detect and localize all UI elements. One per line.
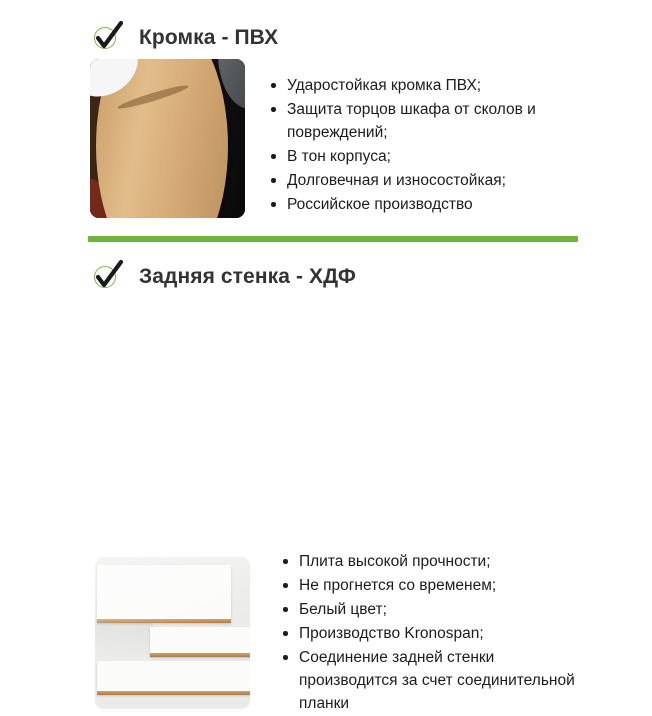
- board-core-edge: [97, 691, 250, 695]
- hdf-boards-artwork: [95, 557, 250, 709]
- feature-section-back: Задняя стенка - ХДФ Плита высокой прочно…: [0, 247, 652, 500]
- feature-list-back: Плита высокой прочности; Не прогнется со…: [282, 550, 582, 716]
- section-heading-back: Задняя стенка - ХДФ: [90, 260, 356, 294]
- board-shadow: [95, 619, 153, 663]
- list-item: Российское производство: [270, 193, 570, 216]
- board-core-edge: [150, 653, 250, 657]
- board-bottom: [97, 661, 250, 695]
- list-item: Белый цвет;: [282, 598, 582, 621]
- section-divider: [88, 236, 578, 242]
- board-core-edge: [97, 619, 231, 623]
- board-middle: [150, 627, 250, 657]
- list-item: Защита торцов шкафа от сколов и поврежде…: [270, 98, 570, 144]
- list-item: Ударостойкая кромка ПВХ;: [270, 74, 570, 97]
- check-circle-icon: [90, 260, 124, 294]
- edge-banding-artwork: [90, 59, 245, 218]
- check-circle-icon: [90, 21, 124, 55]
- list-item: В тон корпуса;: [270, 145, 570, 168]
- feature-section-edge: Кромка - ПВХ Ударостойкая кромка ПВХ; За…: [0, 0, 652, 230]
- section-title-edge: Кромка - ПВХ: [139, 26, 278, 50]
- pvc-edge-banding-photo: [90, 59, 245, 218]
- list-item: Долговечная и износостойкая;: [270, 169, 570, 192]
- feature-list-edge: Ударостойкая кромка ПВХ; Защита торцов ш…: [270, 74, 570, 217]
- section-title-back: Задняя стенка - ХДФ: [139, 265, 356, 289]
- hdf-back-panel-photo: [95, 557, 250, 709]
- list-item: Соединение задней стенки производится за…: [282, 646, 582, 715]
- section-heading-edge: Кромка - ПВХ: [90, 21, 278, 55]
- product-features-page: Кромка - ПВХ Ударостойкая кромка ПВХ; За…: [0, 0, 652, 500]
- list-item: Плита высокой прочности;: [282, 550, 582, 573]
- board-top: [97, 565, 231, 623]
- list-item: Производство Kronospan;: [282, 622, 582, 645]
- list-item: Не прогнется со временем;: [282, 574, 582, 597]
